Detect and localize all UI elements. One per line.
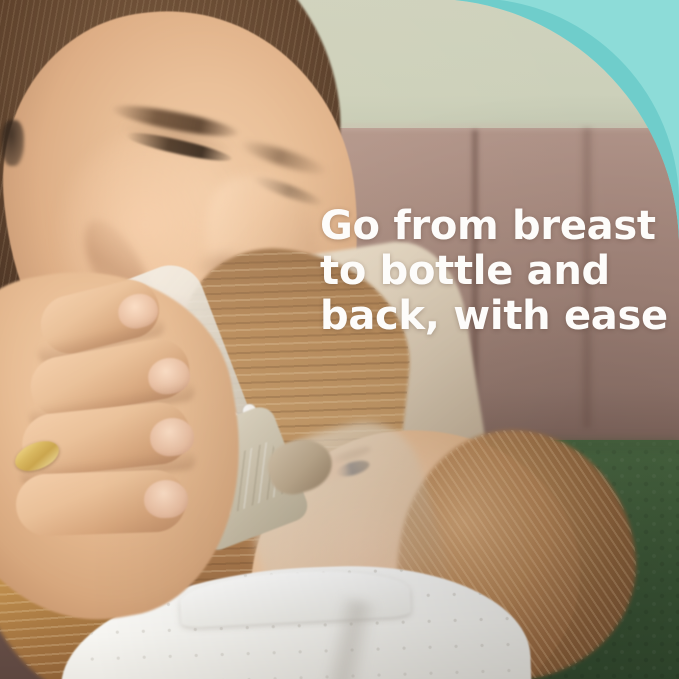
headline-line-1: Go from breast	[320, 204, 660, 249]
headline-line-2: to bottle and	[320, 249, 660, 294]
marketing-image: Go from breast to bottle and back, with …	[0, 0, 679, 679]
headline-line-3: back, with ease	[320, 294, 660, 339]
headline: Go from breast to bottle and back, with …	[320, 204, 660, 339]
mother-fingernail-pinky	[143, 479, 188, 519]
mother-earring	[2, 120, 24, 166]
